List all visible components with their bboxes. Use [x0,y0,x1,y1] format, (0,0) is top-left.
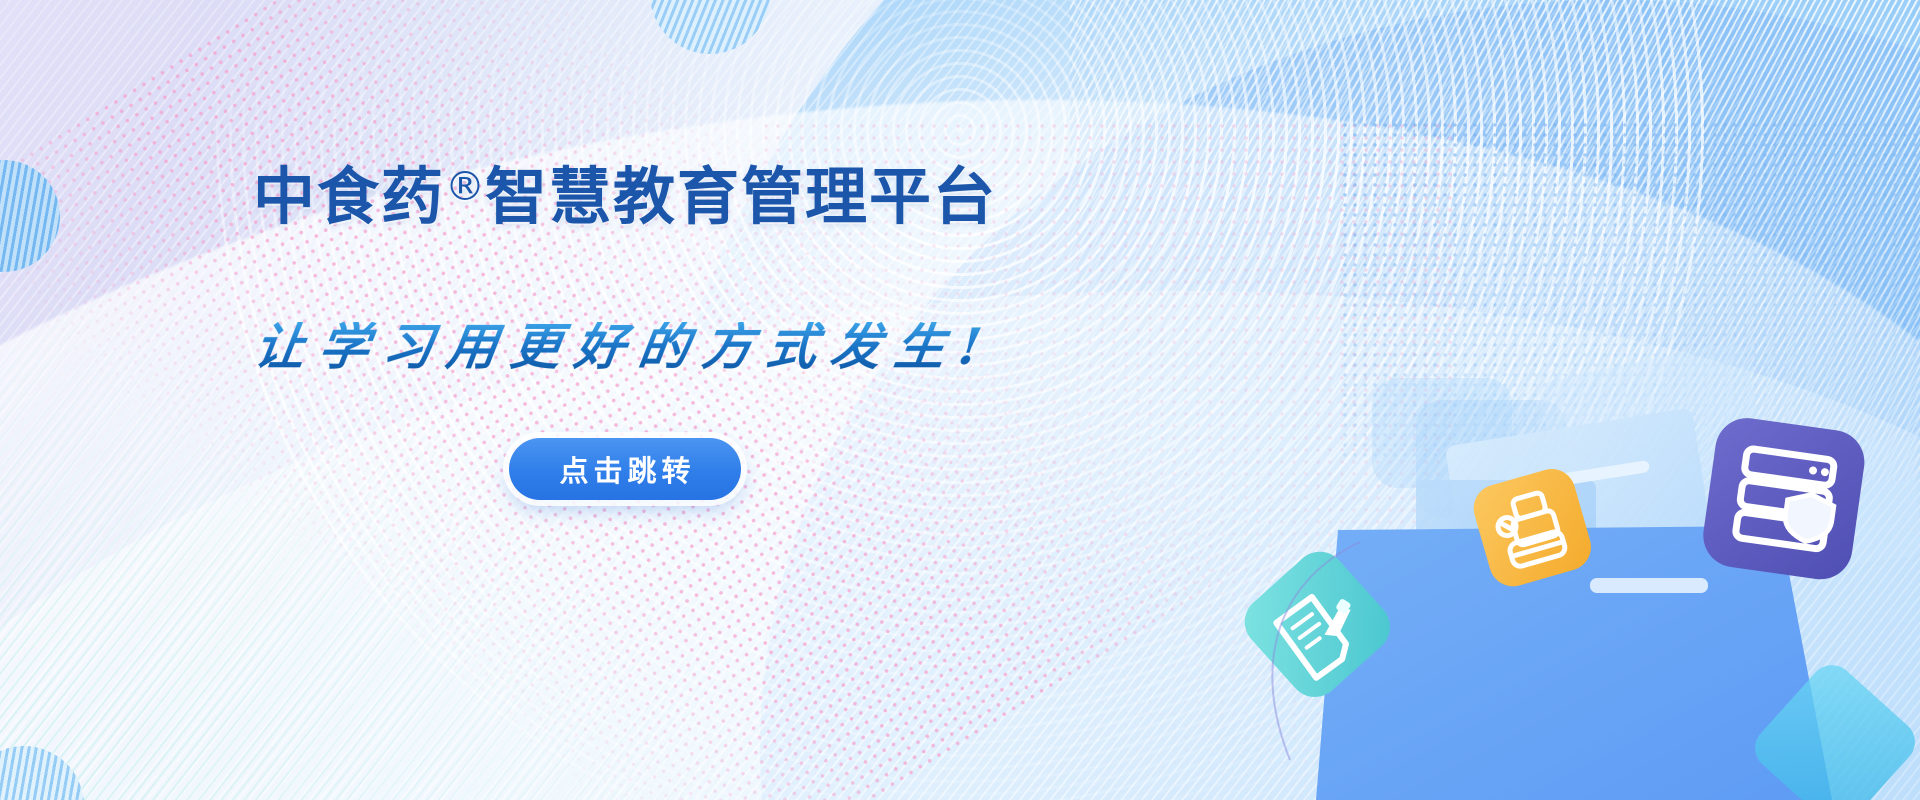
page-title-rest: 智慧教育管理平台 [485,160,997,233]
page-title: 中食药®智慧教育管理平台 [253,166,997,228]
registered-trademark-icon: ® [445,164,485,210]
promo-banner: 中食药®智慧教育管理平台 让学习用更好的方式发生! 点击跳转 [0,0,1920,800]
jump-button[interactable]: 点击跳转 [509,438,741,500]
hero-illustration [1220,330,1920,800]
page-subtitle: 让学习用更好的方式发生! [252,322,999,372]
page-title-brand: 中食药 [253,160,445,233]
server-database-card [1699,414,1868,583]
banner-content: 中食药®智慧教育管理平台 让学习用更好的方式发生! 点击跳转 [0,0,1250,800]
